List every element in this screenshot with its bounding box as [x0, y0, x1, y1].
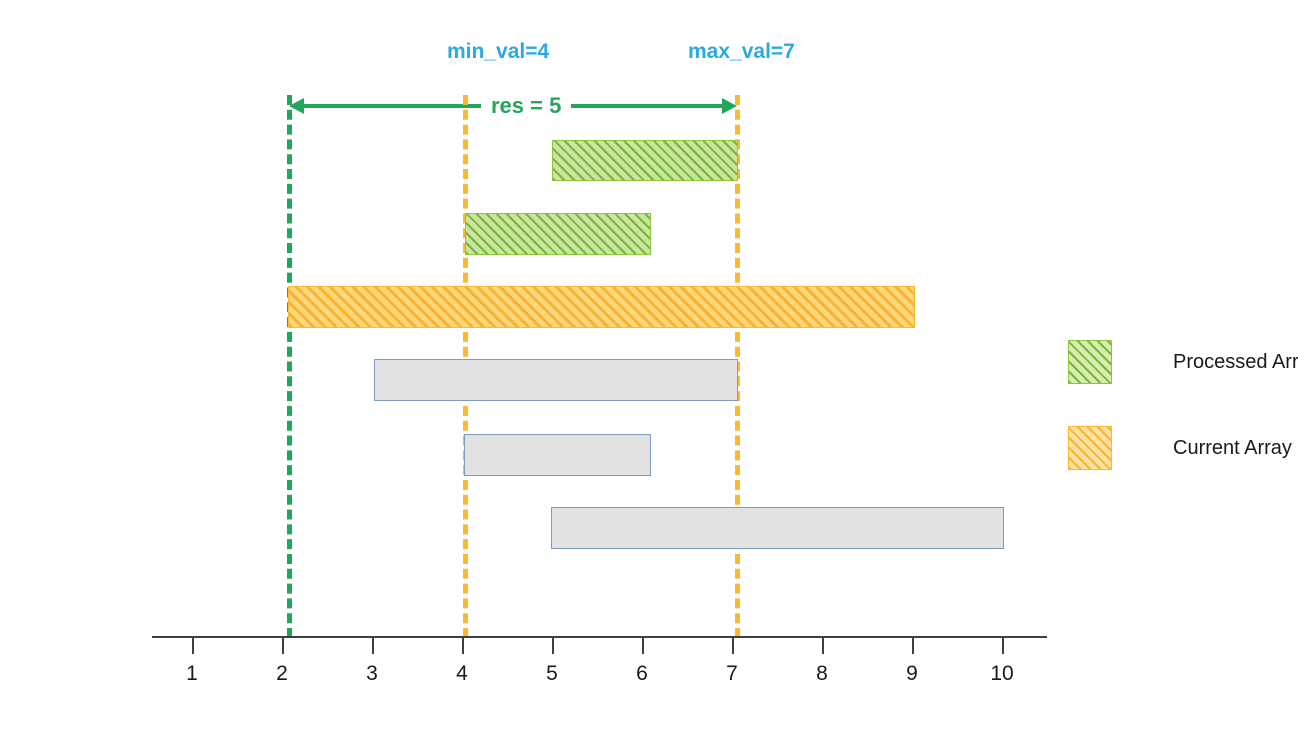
- chart-canvas: min_val=4 max_val=7 res = 5 1 2 3 4 5 6 …: [0, 0, 1298, 738]
- bar-current-1: [288, 286, 915, 328]
- legend-item-processed-array: Processed Array: [1068, 340, 1298, 384]
- bar-processed-1: [552, 140, 738, 181]
- bar-interval-2: [464, 434, 651, 476]
- marker-line-res-start: [287, 95, 292, 638]
- min-val-label: min_val=4: [447, 40, 549, 64]
- legend-swatch-processed-array: [1068, 340, 1112, 384]
- x-axis-tick-10: [1002, 637, 1004, 654]
- x-axis-label-5: 5: [522, 662, 582, 686]
- x-axis-label-10: 10: [972, 662, 1032, 686]
- bar-interval-3: [551, 507, 1004, 549]
- bar-interval-1: [374, 359, 738, 401]
- x-axis-tick-2: [282, 637, 284, 654]
- x-axis-tick-5: [552, 637, 554, 654]
- x-axis-tick-4: [462, 637, 464, 654]
- x-axis-label-7: 7: [702, 662, 762, 686]
- x-axis-label-1: 1: [162, 662, 222, 686]
- bar-processed-2: [465, 213, 651, 255]
- x-axis-tick-9: [912, 637, 914, 654]
- x-axis-label-9: 9: [882, 662, 942, 686]
- x-axis-label-8: 8: [792, 662, 852, 686]
- x-axis-tick-6: [642, 637, 644, 654]
- x-axis-tick-3: [372, 637, 374, 654]
- x-axis-tick-7: [732, 637, 734, 654]
- x-axis-label-6: 6: [612, 662, 672, 686]
- x-axis-tick-8: [822, 637, 824, 654]
- legend-swatch-current-array: [1068, 426, 1112, 470]
- res-label: res = 5: [481, 93, 571, 119]
- x-axis-label-4: 4: [432, 662, 492, 686]
- x-axis-tick-1: [192, 637, 194, 654]
- max-val-label: max_val=7: [688, 40, 795, 64]
- legend-label-current-array: Current Array: [1173, 437, 1292, 460]
- x-axis-label-2: 2: [252, 662, 312, 686]
- x-axis-label-3: 3: [342, 662, 402, 686]
- legend-label-processed-array: Processed Array: [1173, 351, 1298, 374]
- legend-item-current-array: Current Array: [1068, 426, 1292, 470]
